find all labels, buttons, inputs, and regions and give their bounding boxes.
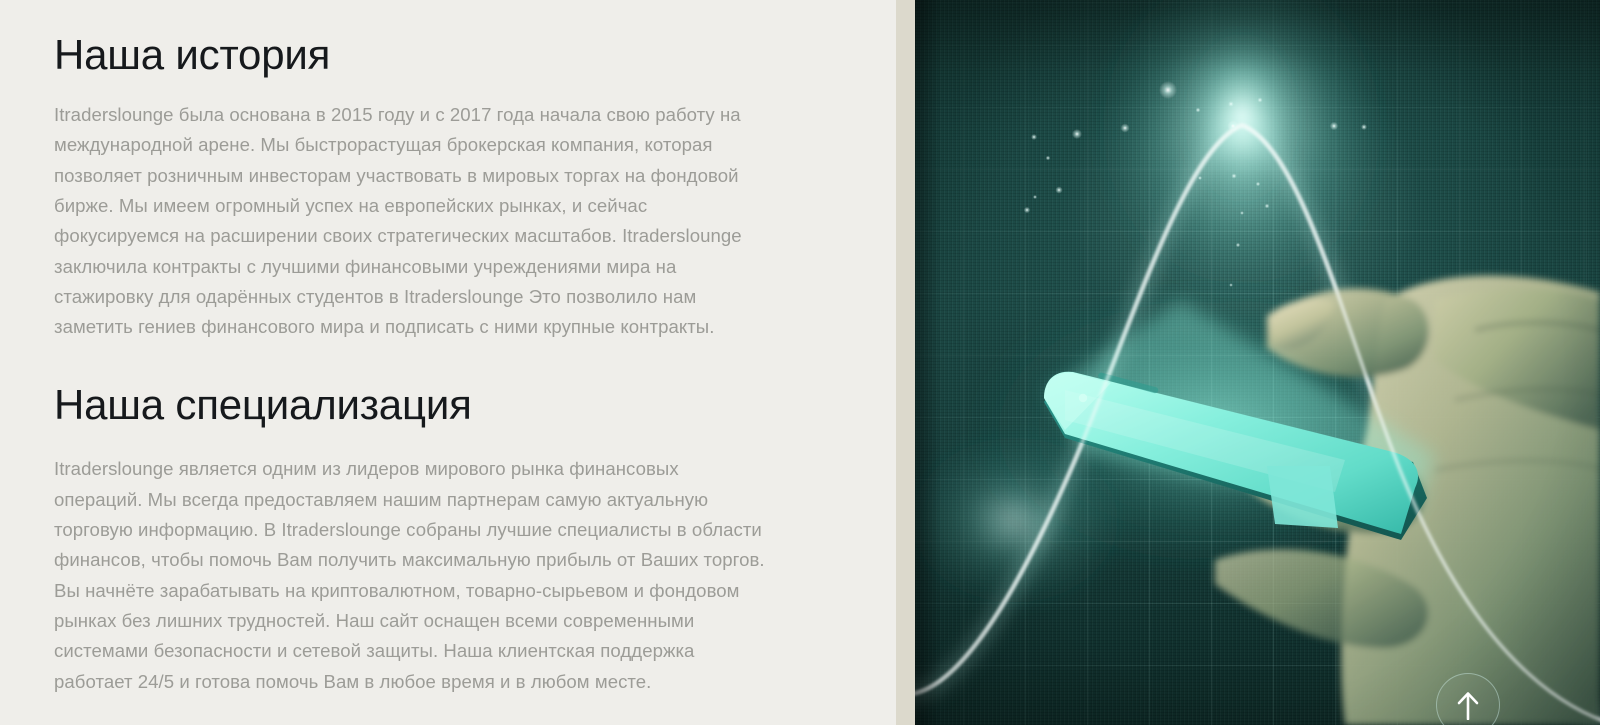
section-our-specialization: Наша специализация Itraderslounge являет… xyxy=(54,381,766,696)
hero-illustration xyxy=(915,0,1600,725)
section-body-our-history: Itraderslounge была основана в 2015 году… xyxy=(54,100,766,342)
pane-divider xyxy=(896,0,915,725)
section-our-history: Наша история Itraderslounge была основан… xyxy=(54,31,766,342)
section-body-our-specialization: Itraderslounge является одним из лидеров… xyxy=(54,454,766,696)
hero-image xyxy=(915,0,1600,725)
about-page: Наша история Itraderslounge была основан… xyxy=(0,0,1600,725)
arrow-up-icon xyxy=(1455,690,1481,720)
content-pane: Наша история Itraderslounge была основан… xyxy=(0,0,896,725)
section-title-our-history: Наша история xyxy=(54,31,766,78)
section-title-our-specialization: Наша специализация xyxy=(54,381,766,428)
